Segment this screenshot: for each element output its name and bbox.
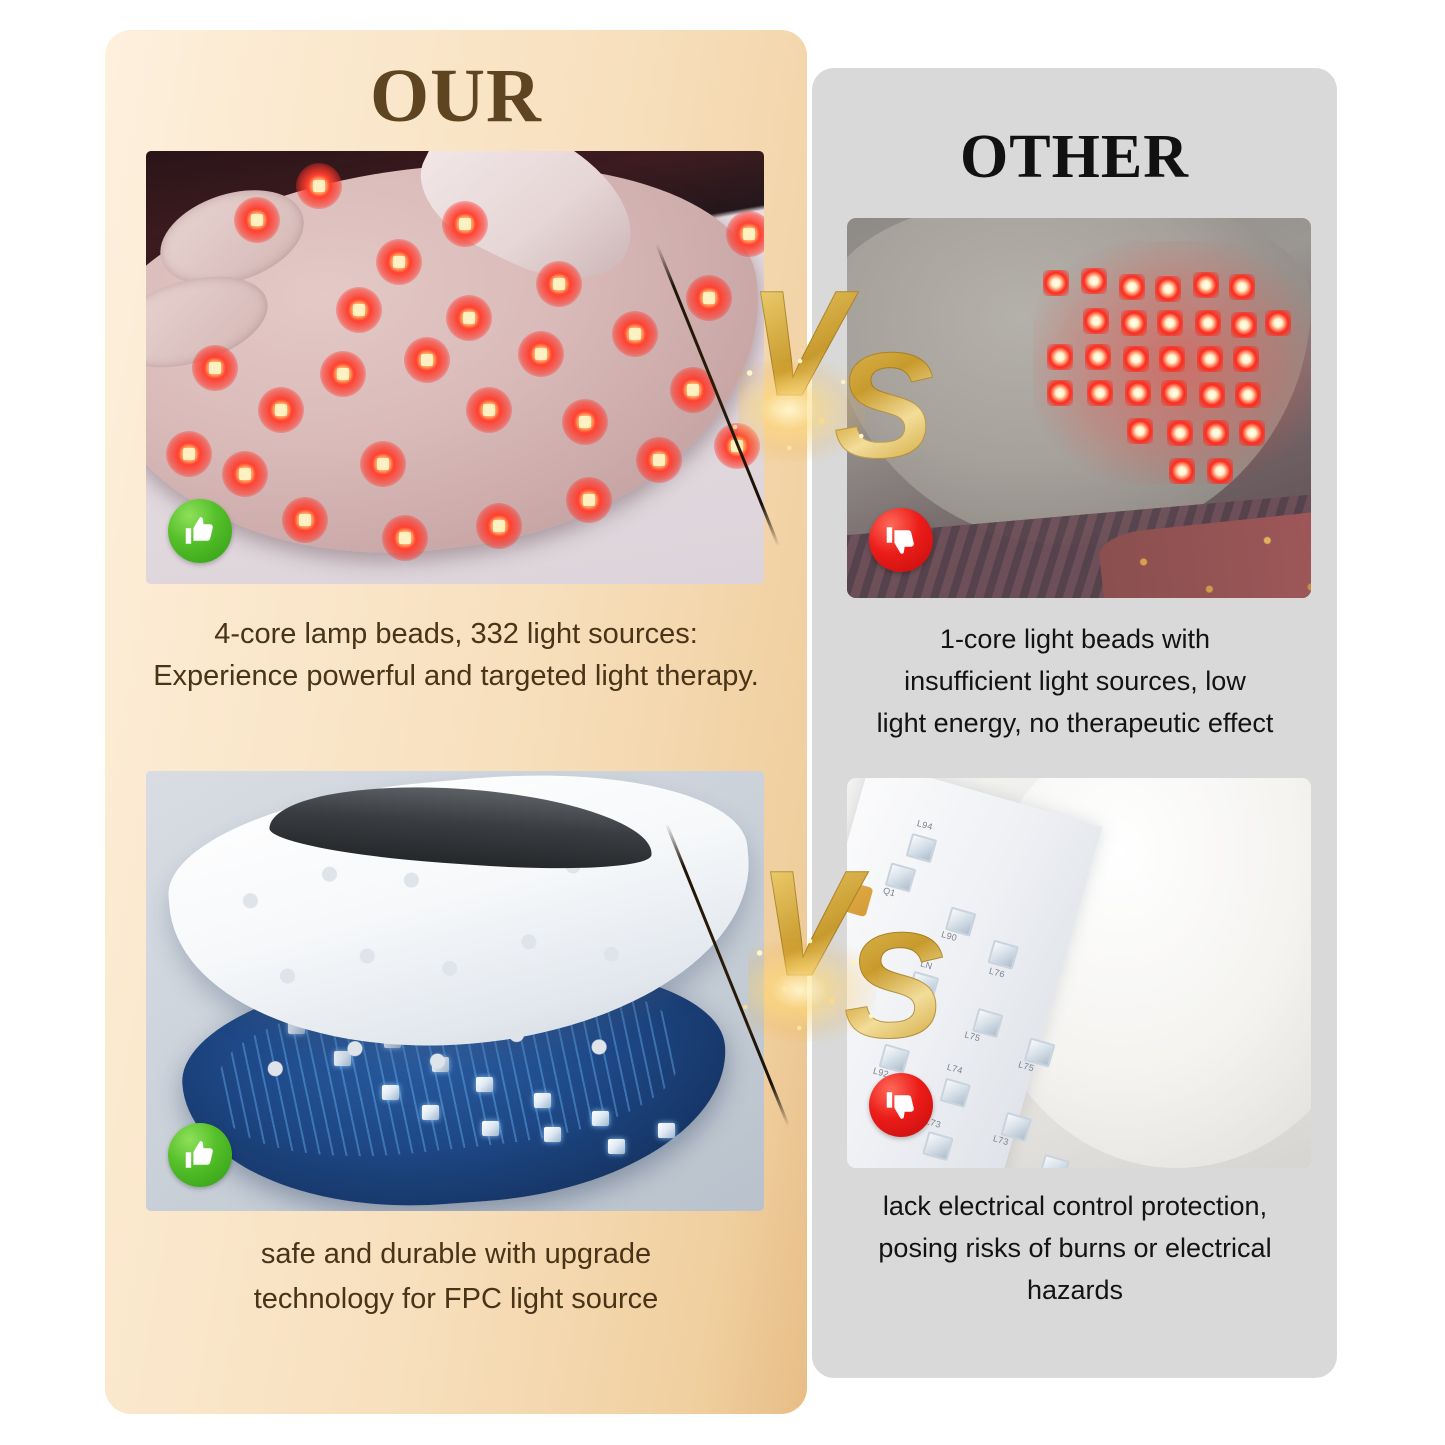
- thumbs-down-icon: [869, 508, 933, 572]
- blue-fpc-photo: [146, 771, 764, 1211]
- red-led-mask-photo: [146, 151, 764, 584]
- our-caption-1: 4-core lamp beads, 332 light sources: Ex…: [120, 613, 792, 697]
- thumbs-down-icon: [869, 1073, 933, 1137]
- caption-line: 4-core lamp beads, 332 light sources:: [120, 613, 792, 655]
- thumbs-up-icon: [168, 499, 232, 563]
- caption-line: insufficient light sources, low: [826, 660, 1324, 702]
- our-caption-2: safe and durable with upgrade technology…: [150, 1232, 762, 1322]
- caption-line: 1-core light beads with: [826, 618, 1324, 660]
- thumbs-up-icon: [168, 1123, 232, 1187]
- other-caption-1: 1-core light beads with insufficient lig…: [826, 618, 1324, 744]
- caption-line: hazards: [826, 1269, 1324, 1311]
- caption-line: posing risks of burns or electrical: [826, 1227, 1324, 1269]
- other-column-title: OTHER: [812, 126, 1337, 188]
- caption-line: technology for FPC light source: [150, 1277, 762, 1322]
- our-product-image-2: [146, 771, 764, 1211]
- other-product-image-1: [847, 218, 1311, 598]
- our-column-title: OUR: [105, 58, 807, 134]
- other-caption-2: lack electrical control protection, posi…: [826, 1185, 1324, 1311]
- caption-line: lack electrical control protection,: [826, 1185, 1324, 1227]
- solder-pad: [847, 928, 849, 997]
- solder-pad: [847, 873, 873, 917]
- caption-line: safe and durable with upgrade: [150, 1232, 762, 1277]
- other-product-image-2: Q1 L90 L76 LN L75 L75 L92 L74 L73 L73 L9…: [847, 778, 1311, 1168]
- caption-line: light energy, no therapeutic effect: [826, 702, 1324, 744]
- our-product-image-1: [146, 151, 764, 584]
- caption-line: Experience powerful and targeted light t…: [120, 655, 792, 697]
